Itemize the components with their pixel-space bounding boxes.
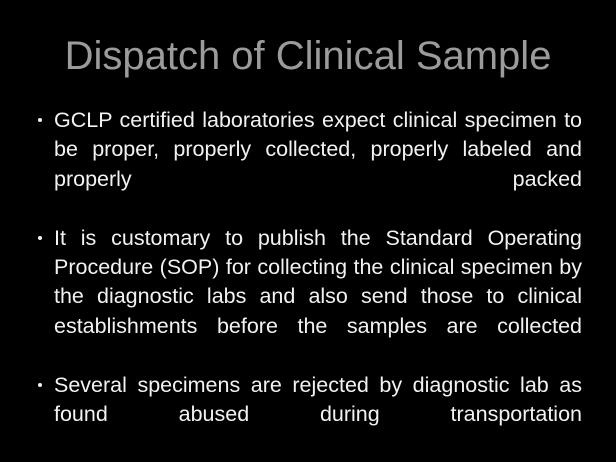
list-item: Several specimens are rejected by diagno… (34, 371, 582, 459)
list-item-text: It is customary to publish the Standard … (54, 224, 582, 371)
bullet-dot-icon (38, 383, 42, 387)
list-item: GCLP certified laboratories expect clini… (34, 106, 582, 224)
bullet-dot-icon (38, 236, 42, 240)
bullet-list: GCLP certified laboratories expect clini… (34, 106, 582, 459)
presentation-slide: Dispatch of Clinical Sample GCLP certifi… (0, 0, 616, 462)
page-title: Dispatch of Clinical Sample (0, 32, 616, 80)
bullet-dot-icon (38, 118, 42, 122)
list-item-text: Several specimens are rejected by diagno… (54, 371, 582, 459)
list-item-text: GCLP certified laboratories expect clini… (54, 106, 582, 224)
list-item: It is customary to publish the Standard … (34, 224, 582, 371)
